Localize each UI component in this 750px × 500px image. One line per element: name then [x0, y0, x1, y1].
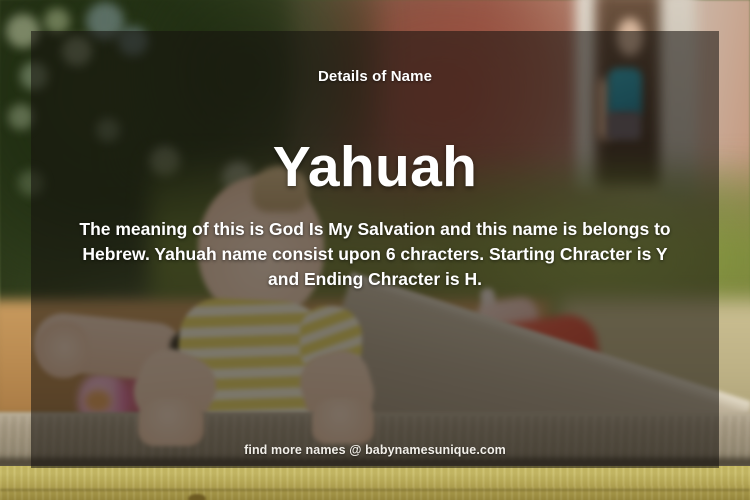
photo-bottom-plank-grain — [0, 466, 750, 500]
photo-bottom-plank-knot — [188, 494, 206, 500]
name-detail-card: Details of Name Yahuah The meaning of th… — [0, 0, 750, 500]
card-kicker-label: Details of Name — [31, 68, 719, 85]
footer-attribution: find more names @ babynamesunique.com — [31, 443, 719, 457]
page-title: Yahuah — [31, 139, 719, 196]
card-content: Details of Name Yahuah The meaning of th… — [31, 31, 719, 468]
photo-bottom-plank-seam — [0, 489, 750, 491]
name-description-text: The meaning of this is God Is My Salvati… — [75, 217, 675, 292]
